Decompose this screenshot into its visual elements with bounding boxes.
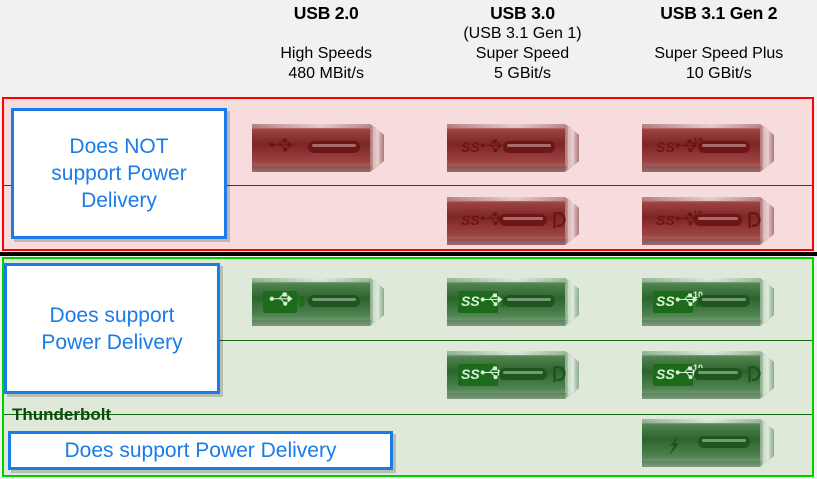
row-pd-plain: SS <box>226 268 812 336</box>
header-speedname-usb30: Super Speed <box>424 44 620 64</box>
usb-c-connector-ss: SS <box>447 117 591 179</box>
connector-cell[interactable]: SS 10 <box>617 187 812 255</box>
usb-c-connector-ss: SS <box>447 344 591 406</box>
svg-text:SS: SS <box>461 212 480 228</box>
empty-cell <box>421 410 616 476</box>
connector-cell[interactable]: SS 10 <box>617 112 812 184</box>
empty-cell <box>226 340 421 410</box>
usb-c-connector-ss10: SS 10 <box>642 190 786 252</box>
header-speedvalue-usb30: 5 GBit/s <box>424 64 620 84</box>
label-does-support-power-delivery: Does support Power Delivery <box>4 263 220 394</box>
usb-c-connector: SS 10 <box>642 271 786 333</box>
row-no-pd-plain: SS <box>226 112 812 184</box>
connector-cell[interactable]: SS 10 <box>617 268 812 336</box>
label-tb-text: Does support Power Delivery <box>65 438 337 463</box>
header-name-usb30: USB 3.0 <box>424 3 620 24</box>
usb-c-connector <box>642 412 786 474</box>
usb-c-connector-ss10: SS 10 <box>642 117 786 179</box>
usb-c-connector-thunderbolt <box>642 412 786 474</box>
usb-c-connector: SS 10 <box>642 190 786 252</box>
svg-text:SS: SS <box>461 139 480 155</box>
header-speedname-usb20: High Speeds <box>228 44 424 64</box>
header-speedname-usb31gen2: Super Speed Plus <box>621 44 817 64</box>
usb-c-connector <box>252 271 396 333</box>
label-does-not-support-power-delivery: Does NOT support Power Delivery <box>11 108 227 239</box>
label-no-pd-line2: support Power <box>51 160 186 187</box>
header-alt-usb31gen2 <box>621 24 817 44</box>
usb-c-connector-ss: SS <box>447 190 591 252</box>
usb-c-connector: SS 10 <box>642 117 786 179</box>
header-alt-usb30: (USB 3.1 Gen 1) <box>424 24 620 44</box>
header-column-usb30: USB 3.0 (USB 3.1 Gen 1) Super Speed 5 GB… <box>424 0 620 98</box>
label-no-pd-line3: Delivery <box>51 187 186 214</box>
label-pd-line1: Does support <box>41 302 182 329</box>
header-speedvalue-usb31gen2: 10 GBit/s <box>621 64 817 84</box>
column-headers: USB 2.0 High Speeds 480 MBit/s USB 3.0 (… <box>228 0 817 98</box>
usb-c-connector: SS <box>447 344 591 406</box>
label-pd-text: Does support Power Delivery <box>41 302 182 356</box>
usb-c-connector-ss10: SS 10 <box>642 271 786 333</box>
svg-text:SS: SS <box>656 212 675 228</box>
label-thunderbolt-power-delivery: Does support Power Delivery <box>8 431 393 470</box>
usb-c-connector-usb2 <box>252 117 396 179</box>
label-no-pd-text: Does NOT support Power Delivery <box>51 133 186 214</box>
usb-connector-comparison-chart: USB 2.0 High Speeds 480 MBit/s USB 3.0 (… <box>0 0 817 479</box>
connector-cell[interactable]: SS 10 <box>617 340 812 410</box>
header-name-usb20: USB 2.0 <box>228 3 424 24</box>
header-column-usb20: USB 2.0 High Speeds 480 MBit/s <box>228 0 424 98</box>
svg-text:SS: SS <box>461 366 480 382</box>
header-speedvalue-usb20: 480 MBit/s <box>228 64 424 84</box>
connector-cell[interactable]: SS <box>421 187 616 255</box>
usb-c-connector: SS 10 <box>642 344 786 406</box>
connector-cell[interactable]: SS <box>421 268 616 336</box>
usb-c-connector: SS <box>447 190 591 252</box>
svg-text:SS: SS <box>656 366 675 382</box>
row-no-pd-with-pd-logo: SS <box>226 187 812 255</box>
connector-cell[interactable] <box>226 268 421 336</box>
svg-text:SS: SS <box>656 139 675 155</box>
header-name-usb31gen2: USB 3.1 Gen 2 <box>621 3 817 24</box>
label-no-pd-line1: Does NOT <box>51 133 186 160</box>
label-pd-line2: Power Delivery <box>41 329 182 356</box>
row-pd-with-pd-logo: SS <box>226 340 812 410</box>
empty-cell <box>226 187 421 255</box>
header-column-usb31gen2: USB 3.1 Gen 2 Super Speed Plus 10 GBit/s <box>621 0 817 98</box>
usb-c-connector-usb2 <box>252 271 396 333</box>
usb-c-connector-ss10: SS 10 <box>642 344 786 406</box>
svg-text:SS: SS <box>461 293 480 309</box>
connector-cell[interactable]: SS <box>421 112 616 184</box>
svg-text:SS: SS <box>656 293 675 309</box>
connector-cell[interactable]: SS <box>421 340 616 410</box>
thunderbolt-title: Thunderbolt <box>12 405 111 425</box>
header-alt-usb20 <box>228 24 424 44</box>
usb-c-connector: SS <box>447 117 591 179</box>
connector-cell[interactable] <box>226 112 421 184</box>
connector-cell[interactable] <box>617 410 812 476</box>
usb-c-connector-ss: SS <box>447 271 591 333</box>
usb-c-connector: SS <box>447 271 591 333</box>
usb-c-connector <box>252 117 396 179</box>
